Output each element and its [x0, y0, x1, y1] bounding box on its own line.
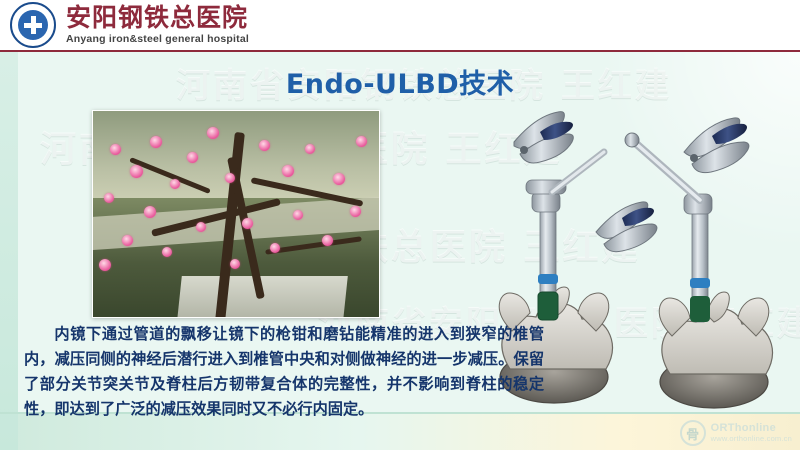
orthonline-mark-icon: 骨	[680, 420, 706, 446]
plum-blossom-photo	[92, 110, 380, 318]
hospital-cross-logo-icon	[10, 2, 56, 48]
slide-title: Endo-ULBD技术	[0, 62, 800, 101]
hospital-name-cn: 安阳钢铁总医院	[66, 5, 249, 31]
slide-root: 安阳钢铁总医院 Anyang iron&steel general hospit…	[0, 0, 800, 450]
orthonline-footer-logo: 骨 ORThonline www.orthonline.com.cn	[680, 420, 792, 446]
hospital-name-en: Anyang iron&steel general hospital	[66, 34, 249, 45]
slide-body-text: 内镜下通过管道的飘移让镜下的枪钳和磨钻能精准的进入到狭窄的椎管内，减压同侧的神经…	[24, 322, 544, 422]
left-decorative-strip	[0, 52, 18, 450]
orthonline-site-url: www.orthonline.com.cn	[711, 435, 792, 443]
hospital-name-block: 安阳钢铁总医院 Anyang iron&steel general hospit…	[66, 5, 249, 44]
body-paragraph: 内镜下通过管道的飘移让镜下的枪钳和磨钻能精准的进入到狭窄的椎管内，减压同侧的神经…	[24, 322, 544, 422]
slide-header: 安阳钢铁总医院 Anyang iron&steel general hospit…	[0, 0, 800, 52]
